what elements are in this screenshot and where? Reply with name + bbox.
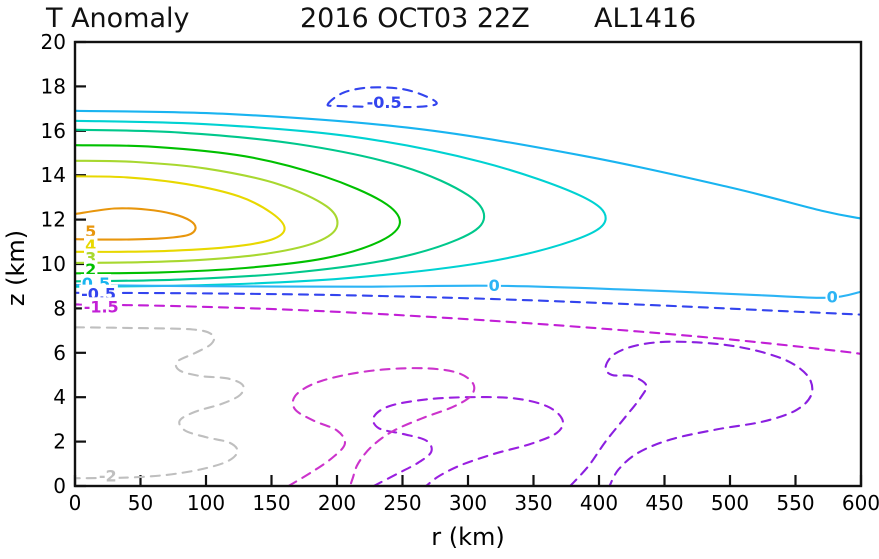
contour-lines bbox=[75, 87, 861, 486]
y-tick-label: 18 bbox=[41, 74, 66, 98]
contour-labels: 54320.50-0.5-0.5-1.5-20 bbox=[79, 93, 839, 486]
contour-line bbox=[373, 397, 563, 486]
contour-line bbox=[75, 285, 861, 298]
x-tick-label: 550 bbox=[776, 491, 814, 515]
y-tick-label: 8 bbox=[53, 296, 66, 320]
contour-label: -1.5 bbox=[84, 297, 119, 316]
y-tick-label: 20 bbox=[41, 30, 66, 54]
y-tick-label: 0 bbox=[53, 474, 66, 498]
y-axis-label: z (km) bbox=[2, 230, 30, 306]
title-middle: 2016 OCT03 22Z bbox=[300, 3, 530, 34]
figure-canvas: T Anomaly 2016 OCT03 22Z AL1416 r (km) z… bbox=[0, 0, 879, 559]
x-tick-label: 600 bbox=[842, 491, 879, 515]
y-tick-label: 6 bbox=[53, 341, 66, 365]
x-tick-label: 350 bbox=[514, 491, 552, 515]
contour-plot: T Anomaly 2016 OCT03 22Z AL1416 r (km) z… bbox=[0, 0, 879, 559]
contour-label: -0.5 bbox=[367, 93, 402, 112]
contour-line bbox=[75, 111, 861, 219]
y-tick-label: 10 bbox=[41, 252, 66, 276]
contour-line bbox=[75, 293, 861, 315]
title-left: T Anomaly bbox=[45, 3, 190, 34]
x-tick-label: 200 bbox=[318, 491, 356, 515]
title-right: AL1416 bbox=[594, 3, 696, 34]
x-axis-label: r (km) bbox=[431, 523, 505, 551]
contour-label: 0 bbox=[489, 276, 500, 295]
y-tick-label: 12 bbox=[41, 208, 66, 232]
contour-line bbox=[75, 130, 484, 282]
contour-line bbox=[75, 327, 244, 478]
x-tick-label: 500 bbox=[711, 491, 749, 515]
x-tick-label: 150 bbox=[252, 491, 290, 515]
x-tick-label: 50 bbox=[128, 491, 153, 515]
x-tick-label: 0 bbox=[69, 491, 82, 515]
x-tick-label: 300 bbox=[449, 491, 487, 515]
contour-line bbox=[570, 342, 812, 486]
x-tick-label: 250 bbox=[383, 491, 421, 515]
y-tick-label: 4 bbox=[53, 385, 66, 409]
y-tick-label: 2 bbox=[53, 430, 66, 454]
x-tick-label: 100 bbox=[187, 491, 225, 515]
contour-line bbox=[289, 368, 475, 486]
x-tick-label: 400 bbox=[580, 491, 618, 515]
y-tick-label: 16 bbox=[41, 119, 66, 143]
x-tick-label: 450 bbox=[645, 491, 683, 515]
contour-label: -2 bbox=[99, 467, 117, 486]
y-tick-label: 14 bbox=[41, 163, 66, 187]
contour-label: 0 bbox=[827, 287, 838, 306]
